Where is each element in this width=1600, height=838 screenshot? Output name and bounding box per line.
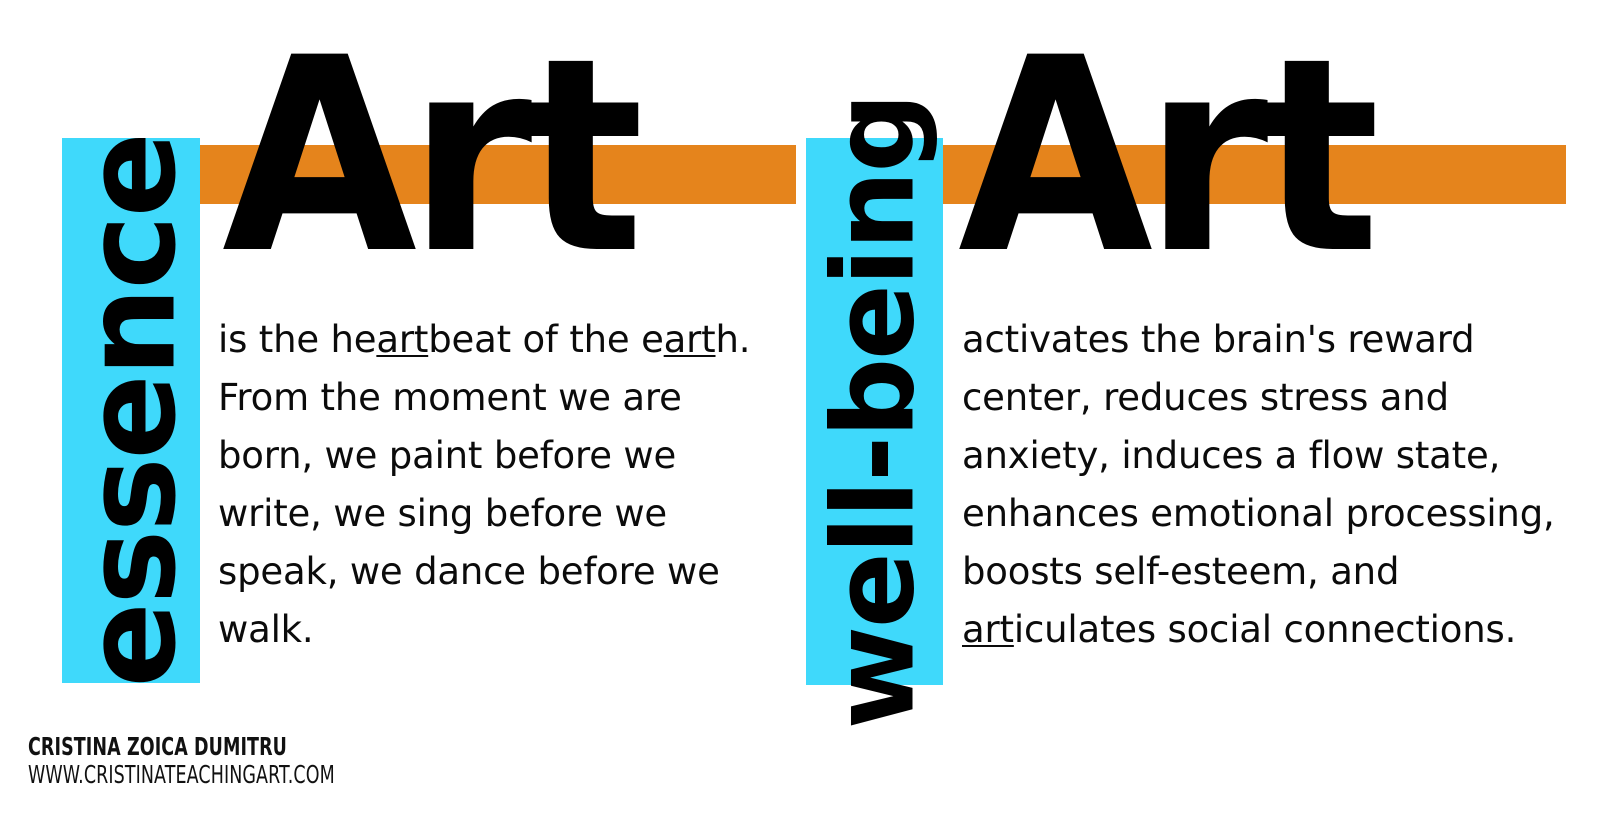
body-text-well-being: activates the brain's reward center, red… [962, 311, 1562, 659]
heading-art-essence: Art [222, 42, 635, 272]
underlined-art-fragment: art [962, 608, 1014, 651]
text-fragment: beat of the e [428, 318, 663, 361]
cyan-block-essence [62, 138, 200, 683]
text-fragment: h. From the moment we are born, we paint… [218, 318, 750, 651]
underlined-art-fragment: art [664, 318, 716, 361]
text-fragment: iculates social connections. [1014, 608, 1516, 651]
underlined-art-fragment: art [376, 318, 428, 361]
body-text-essence: is the heartbeat of the earth. From the … [218, 311, 778, 659]
text-fragment: is the he [218, 318, 376, 361]
footer-website-url[interactable]: WWW.CRISTINATEACHINGART.COM [28, 761, 335, 788]
text-fragment: activates the brain's reward center, red… [962, 318, 1555, 593]
footer-author-name: CRISTINA ZOICA DUMITRU [28, 734, 335, 759]
heading-art-well-being: Art [958, 42, 1371, 272]
footer-credit: CRISTINA ZOICA DUMITRU WWW.CRISTINATEACH… [28, 734, 466, 788]
cyan-block-well-being [806, 138, 943, 685]
poster-canvas: essence well-being Art Art is the heartb… [0, 0, 1600, 838]
